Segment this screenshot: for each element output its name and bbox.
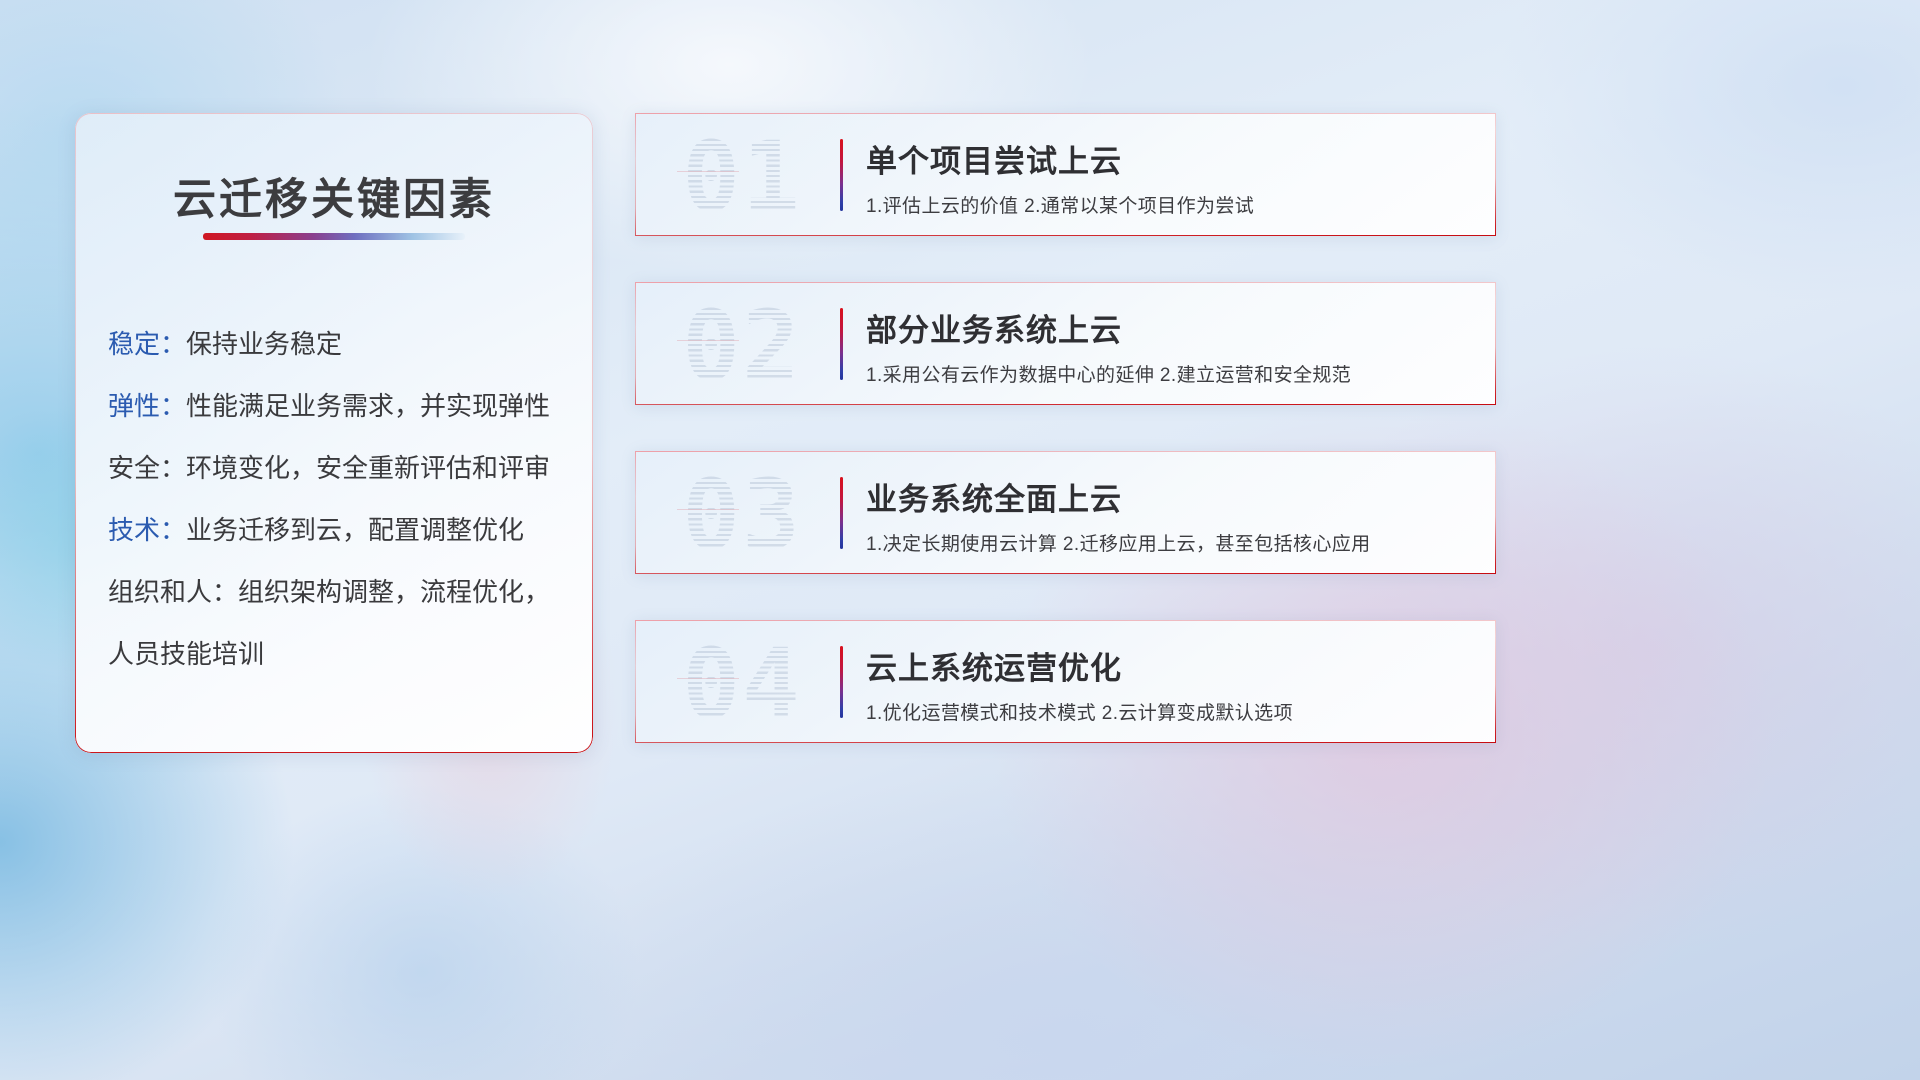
key-factor-text: 环境变化，安全重新评估和评审 <box>186 453 550 483</box>
stage-title: 部分业务系统上云 <box>866 305 1122 350</box>
key-factor-item: 弹性：性能满足业务需求，并实现弹性 <box>108 375 569 437</box>
stage-accent-bar <box>840 308 843 380</box>
stage-accent-bar <box>840 139 843 211</box>
key-factors-list: 稳定：保持业务稳定弹性：性能满足业务需求，并实现弹性安全：环境变化，安全重新评估… <box>108 313 569 685</box>
stage-card[interactable]: 01单个项目尝试上云1.评估上云的价值 2.通常以某个项目作为尝试 <box>635 113 1496 236</box>
key-factor-text: 组织架构调整，流程优化， <box>238 577 550 607</box>
stage-description: 1.评估上云的价值 2.通常以某个项目作为尝试 <box>866 191 1254 218</box>
key-factor-label: 弹性： <box>108 391 186 421</box>
key-factor-label: 技术： <box>108 515 186 545</box>
key-factor-item: 稳定：保持业务稳定 <box>108 313 569 375</box>
stage-description: 1.优化运营模式和技术模式 2.云计算变成默认选项 <box>866 698 1293 725</box>
key-factor-item: 人员技能培训 <box>108 623 569 685</box>
stage-title: 单个项目尝试上云 <box>866 136 1122 181</box>
stage-description: 1.决定长期使用云计算 2.迁移应用上云，甚至包括核心应用 <box>866 529 1371 556</box>
stage-accent-bar <box>840 477 843 549</box>
key-factor-item: 组织和人：组织架构调整，流程优化， <box>108 561 569 623</box>
stage-title: 业务系统全面上云 <box>866 474 1122 519</box>
key-factors-panel: 云迁移关键因素 稳定：保持业务稳定弹性：性能满足业务需求，并实现弹性安全：环境变… <box>75 113 593 753</box>
cloud-migration-stages: 01单个项目尝试上云1.评估上云的价值 2.通常以某个项目作为尝试02部分业务系… <box>635 113 1496 743</box>
stage-description: 1.采用公有云作为数据中心的延伸 2.建立运营和安全规范 <box>866 360 1351 387</box>
key-factor-label: 安全： <box>108 453 186 483</box>
title-underline-rule <box>203 233 465 240</box>
stage-number-watermark: 04 <box>657 630 827 738</box>
stage-number-watermark: 02 <box>657 292 827 400</box>
stage-card[interactable]: 04云上系统运营优化1.优化运营模式和技术模式 2.云计算变成默认选项 <box>635 620 1496 743</box>
key-factor-text: 业务迁移到云，配置调整优化 <box>186 515 524 545</box>
key-factor-text: 保持业务稳定 <box>186 329 342 359</box>
stage-title: 云上系统运营优化 <box>866 643 1122 688</box>
key-factor-text: 性能满足业务需求，并实现弹性 <box>186 391 550 421</box>
stage-number-watermark: 03 <box>657 461 827 569</box>
key-factor-item: 技术：业务迁移到云，配置调整优化 <box>108 499 569 561</box>
key-factor-label: 稳定： <box>108 329 186 359</box>
key-factor-item: 安全：环境变化，安全重新评估和评审 <box>108 437 569 499</box>
stage-card[interactable]: 03业务系统全面上云1.决定长期使用云计算 2.迁移应用上云，甚至包括核心应用 <box>635 451 1496 574</box>
key-factor-label: 组织和人： <box>108 577 238 607</box>
stage-number-watermark: 01 <box>657 123 827 231</box>
key-factor-text: 人员技能培训 <box>108 639 264 669</box>
stage-card[interactable]: 02部分业务系统上云1.采用公有云作为数据中心的延伸 2.建立运营和安全规范 <box>635 282 1496 405</box>
page-title: 云迁移关键因素 <box>75 165 593 227</box>
stage-accent-bar <box>840 646 843 718</box>
